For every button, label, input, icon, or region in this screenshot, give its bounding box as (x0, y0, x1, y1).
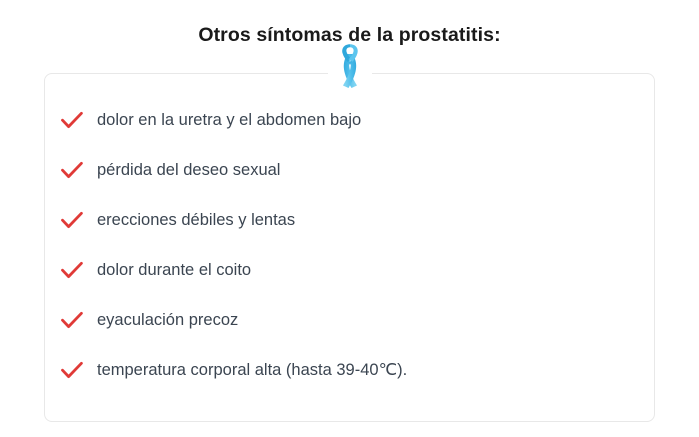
list-item-label: pérdida del deseo sexual (97, 159, 280, 181)
list-item: dolor en la uretra y el abdomen bajo (45, 95, 654, 145)
symptoms-list: dolor en la uretra y el abdomen bajo pér… (45, 74, 654, 395)
list-item: dolor durante el coito (45, 245, 654, 295)
symptoms-page: Otros síntomas de la prostatitis: dolor … (0, 0, 699, 437)
awareness-ribbon-badge (328, 41, 372, 91)
list-item: eyaculación precoz (45, 295, 654, 345)
check-icon (59, 109, 85, 131)
list-item: temperatura corporal alta (hasta 39-40℃)… (45, 345, 654, 395)
check-icon (59, 209, 85, 231)
list-item-label: erecciones débiles y lentas (97, 209, 295, 231)
symptoms-card: dolor en la uretra y el abdomen bajo pér… (44, 73, 655, 422)
check-icon (59, 309, 85, 331)
list-item-label: dolor durante el coito (97, 259, 251, 281)
list-item-label: eyaculación precoz (97, 309, 238, 331)
check-icon (59, 359, 85, 381)
list-item: erecciones débiles y lentas (45, 195, 654, 245)
list-item: pérdida del deseo sexual (45, 145, 654, 195)
check-icon (59, 159, 85, 181)
awareness-ribbon-icon (333, 42, 367, 90)
list-item-label: temperatura corporal alta (hasta 39-40℃)… (97, 359, 407, 381)
list-item-label: dolor en la uretra y el abdomen bajo (97, 109, 361, 131)
check-icon (59, 259, 85, 281)
